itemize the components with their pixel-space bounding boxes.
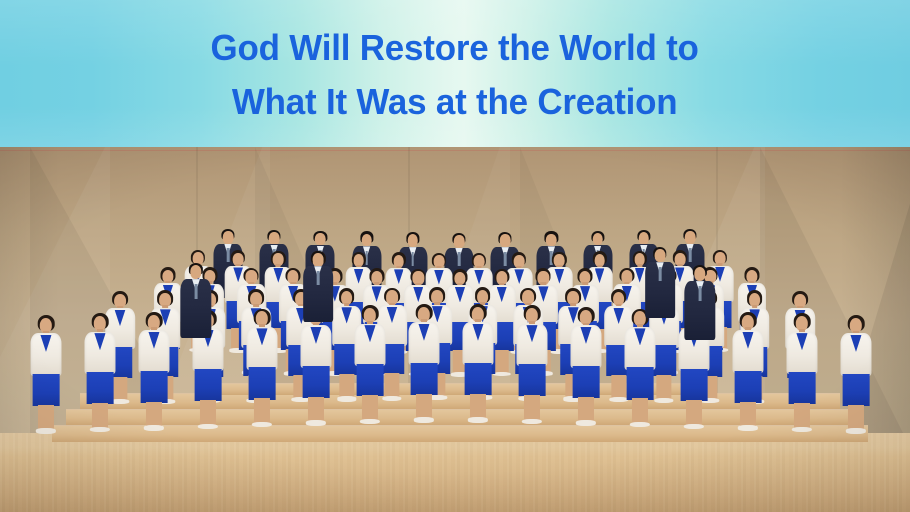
blue-skirt xyxy=(33,374,60,406)
face xyxy=(313,253,324,266)
legs xyxy=(794,403,810,429)
shoes xyxy=(576,420,596,425)
face xyxy=(361,234,372,247)
face xyxy=(639,232,650,245)
choir-member-man xyxy=(175,263,217,349)
blue-skirt xyxy=(465,363,492,395)
legs xyxy=(200,400,216,426)
blue-skirt xyxy=(141,371,168,403)
choir-member-woman xyxy=(25,315,68,476)
legs xyxy=(308,397,324,423)
face xyxy=(315,233,326,246)
blue-skirt xyxy=(843,374,870,406)
blue-skirt xyxy=(303,366,330,398)
face xyxy=(694,267,705,281)
shoes xyxy=(792,427,812,432)
face xyxy=(190,265,201,279)
choir-member-woman xyxy=(835,315,878,476)
choir-member-woman xyxy=(403,304,446,465)
legs xyxy=(254,398,270,424)
choir-member-woman xyxy=(241,309,284,470)
legs xyxy=(524,395,540,421)
choir-member-woman xyxy=(349,305,392,466)
title-line-1: God Will Restore the World to xyxy=(211,23,699,73)
blue-skirt xyxy=(411,363,438,395)
blue-skirt xyxy=(573,366,600,398)
choir-member-woman xyxy=(133,312,176,473)
necktie xyxy=(659,267,662,281)
blue-skirt xyxy=(519,364,546,396)
face xyxy=(592,233,603,246)
choir-member-man xyxy=(640,247,680,328)
choir-member-woman xyxy=(781,313,824,474)
shoes xyxy=(684,424,704,429)
legs xyxy=(38,405,54,431)
legs xyxy=(362,395,378,421)
legs xyxy=(416,394,432,420)
shoes xyxy=(468,417,488,422)
legs xyxy=(686,400,702,426)
shoes xyxy=(198,424,218,429)
choir-member-man xyxy=(298,251,338,332)
shoes xyxy=(738,425,758,430)
blue-skirt xyxy=(681,369,708,401)
choir-member-man xyxy=(679,265,721,351)
shoes xyxy=(144,425,164,430)
title-banner: God Will Restore the World to What It Wa… xyxy=(0,0,910,147)
necktie xyxy=(699,286,702,301)
choir-member-woman xyxy=(79,313,122,474)
choir-member-woman xyxy=(565,307,608,468)
necktie xyxy=(195,284,198,299)
choir-photo xyxy=(0,147,910,512)
shoes xyxy=(414,417,434,422)
shoes xyxy=(306,420,326,425)
shoes xyxy=(360,419,380,424)
blue-skirt xyxy=(249,367,276,399)
choir-member-woman xyxy=(727,312,770,473)
face xyxy=(269,232,280,245)
shoes xyxy=(522,419,542,424)
blue-skirt xyxy=(627,367,654,399)
face xyxy=(546,234,557,247)
title-line-2: What It Was at the Creation xyxy=(232,77,678,127)
shoes xyxy=(90,427,110,432)
blue-skirt xyxy=(735,371,762,403)
choir-member-woman xyxy=(511,305,554,466)
page-root: God Will Restore the World to What It Wa… xyxy=(0,0,910,512)
face xyxy=(685,231,696,244)
face xyxy=(408,234,419,247)
face xyxy=(454,235,465,248)
legs xyxy=(92,403,108,429)
face xyxy=(223,231,234,244)
necktie xyxy=(317,271,320,285)
shoes xyxy=(252,422,272,427)
blue-skirt xyxy=(87,372,114,404)
choir-member-woman xyxy=(619,309,662,470)
face xyxy=(655,249,666,262)
legs xyxy=(848,405,864,431)
face xyxy=(500,234,511,247)
legs xyxy=(146,402,162,428)
legs xyxy=(578,397,594,423)
choir-member-woman xyxy=(457,304,500,465)
shoes xyxy=(36,428,56,433)
blue-skirt xyxy=(789,372,816,404)
shoes xyxy=(630,422,650,427)
shoes xyxy=(846,428,866,433)
blue-skirt xyxy=(195,369,222,401)
legs xyxy=(632,398,648,424)
legs xyxy=(470,394,486,420)
blue-skirt xyxy=(357,364,384,396)
legs xyxy=(740,402,756,428)
